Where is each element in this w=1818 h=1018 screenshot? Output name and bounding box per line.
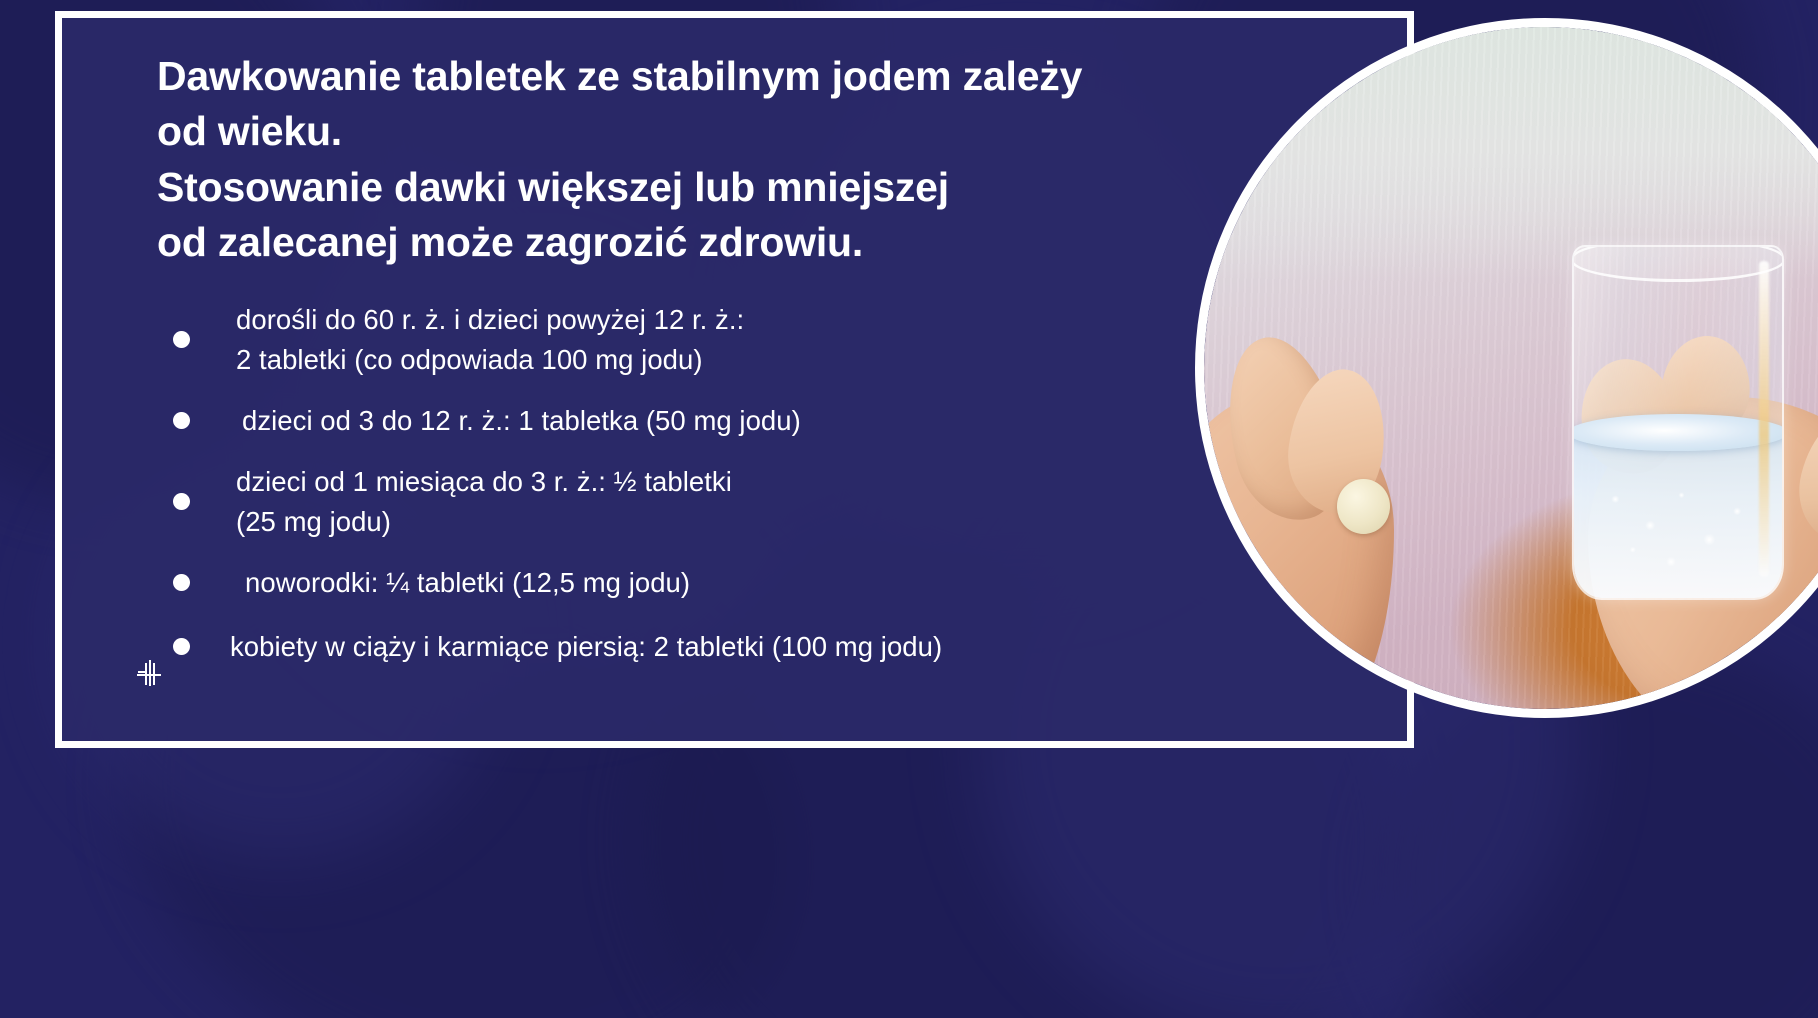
water-bubbles — [1591, 477, 1765, 578]
water-surface — [1572, 414, 1783, 451]
hand-with-tablet — [1204, 327, 1456, 709]
page-title: Dawkowanie tabletek ze stabilnym jodem z… — [157, 49, 1277, 270]
title-line-4: od zalecanej może zagrozić zdrowiu. — [157, 215, 1277, 270]
list-item-label: dzieci od 1 miesiąca do 3 r. ż.: ½ table… — [230, 462, 732, 542]
list-item: dzieci od 3 do 12 r. ż.: 1 tabletka (50 … — [114, 398, 1294, 444]
water-glass — [1572, 245, 1783, 600]
bullet-dot-icon — [173, 638, 190, 655]
dosage-bullet-list: dorośli do 60 r. ż. i dzieci powyżej 12 … — [114, 300, 1294, 670]
glass-rim — [1572, 245, 1783, 282]
list-item-label: kobiety w ciąży i karmiące piersią: 2 ta… — [230, 627, 942, 667]
list-item-label: dorośli do 60 r. ż. i dzieci powyżej 12 … — [230, 300, 744, 380]
slide-canvas: Dawkowanie tabletek ze stabilnym jodem z… — [0, 0, 1818, 1018]
list-item: kobiety w ciąży i karmiące piersią: 2 ta… — [114, 624, 1294, 670]
glass-highlight — [1759, 261, 1769, 577]
list-item: noworodki: ¼ tabletki (12,5 mg jodu) — [114, 560, 1294, 606]
list-item: dorośli do 60 r. ż. i dzieci powyżej 12 … — [114, 300, 1294, 380]
list-item: dzieci od 1 miesiąca do 3 r. ż.: ½ table… — [114, 462, 1294, 542]
title-line-3: Stosowanie dawki większej lub mniejszej — [157, 160, 1277, 215]
photo-canvas — [1204, 27, 1818, 709]
title-line-1: Dawkowanie tabletek ze stabilnym jodem z… — [157, 49, 1277, 104]
glass-water — [1574, 430, 1781, 598]
bullet-dot-icon — [173, 412, 190, 429]
illustration-photo — [1195, 18, 1818, 718]
bullet-dot-icon — [173, 331, 190, 348]
list-item-label: noworodki: ¼ tabletki (12,5 mg jodu) — [230, 563, 690, 603]
list-item-label: dzieci od 3 do 12 r. ż.: 1 tabletka (50 … — [230, 401, 801, 441]
bullet-dot-icon — [173, 493, 190, 510]
title-line-2: od wieku. — [157, 104, 1277, 159]
bullet-dot-icon — [173, 574, 190, 591]
